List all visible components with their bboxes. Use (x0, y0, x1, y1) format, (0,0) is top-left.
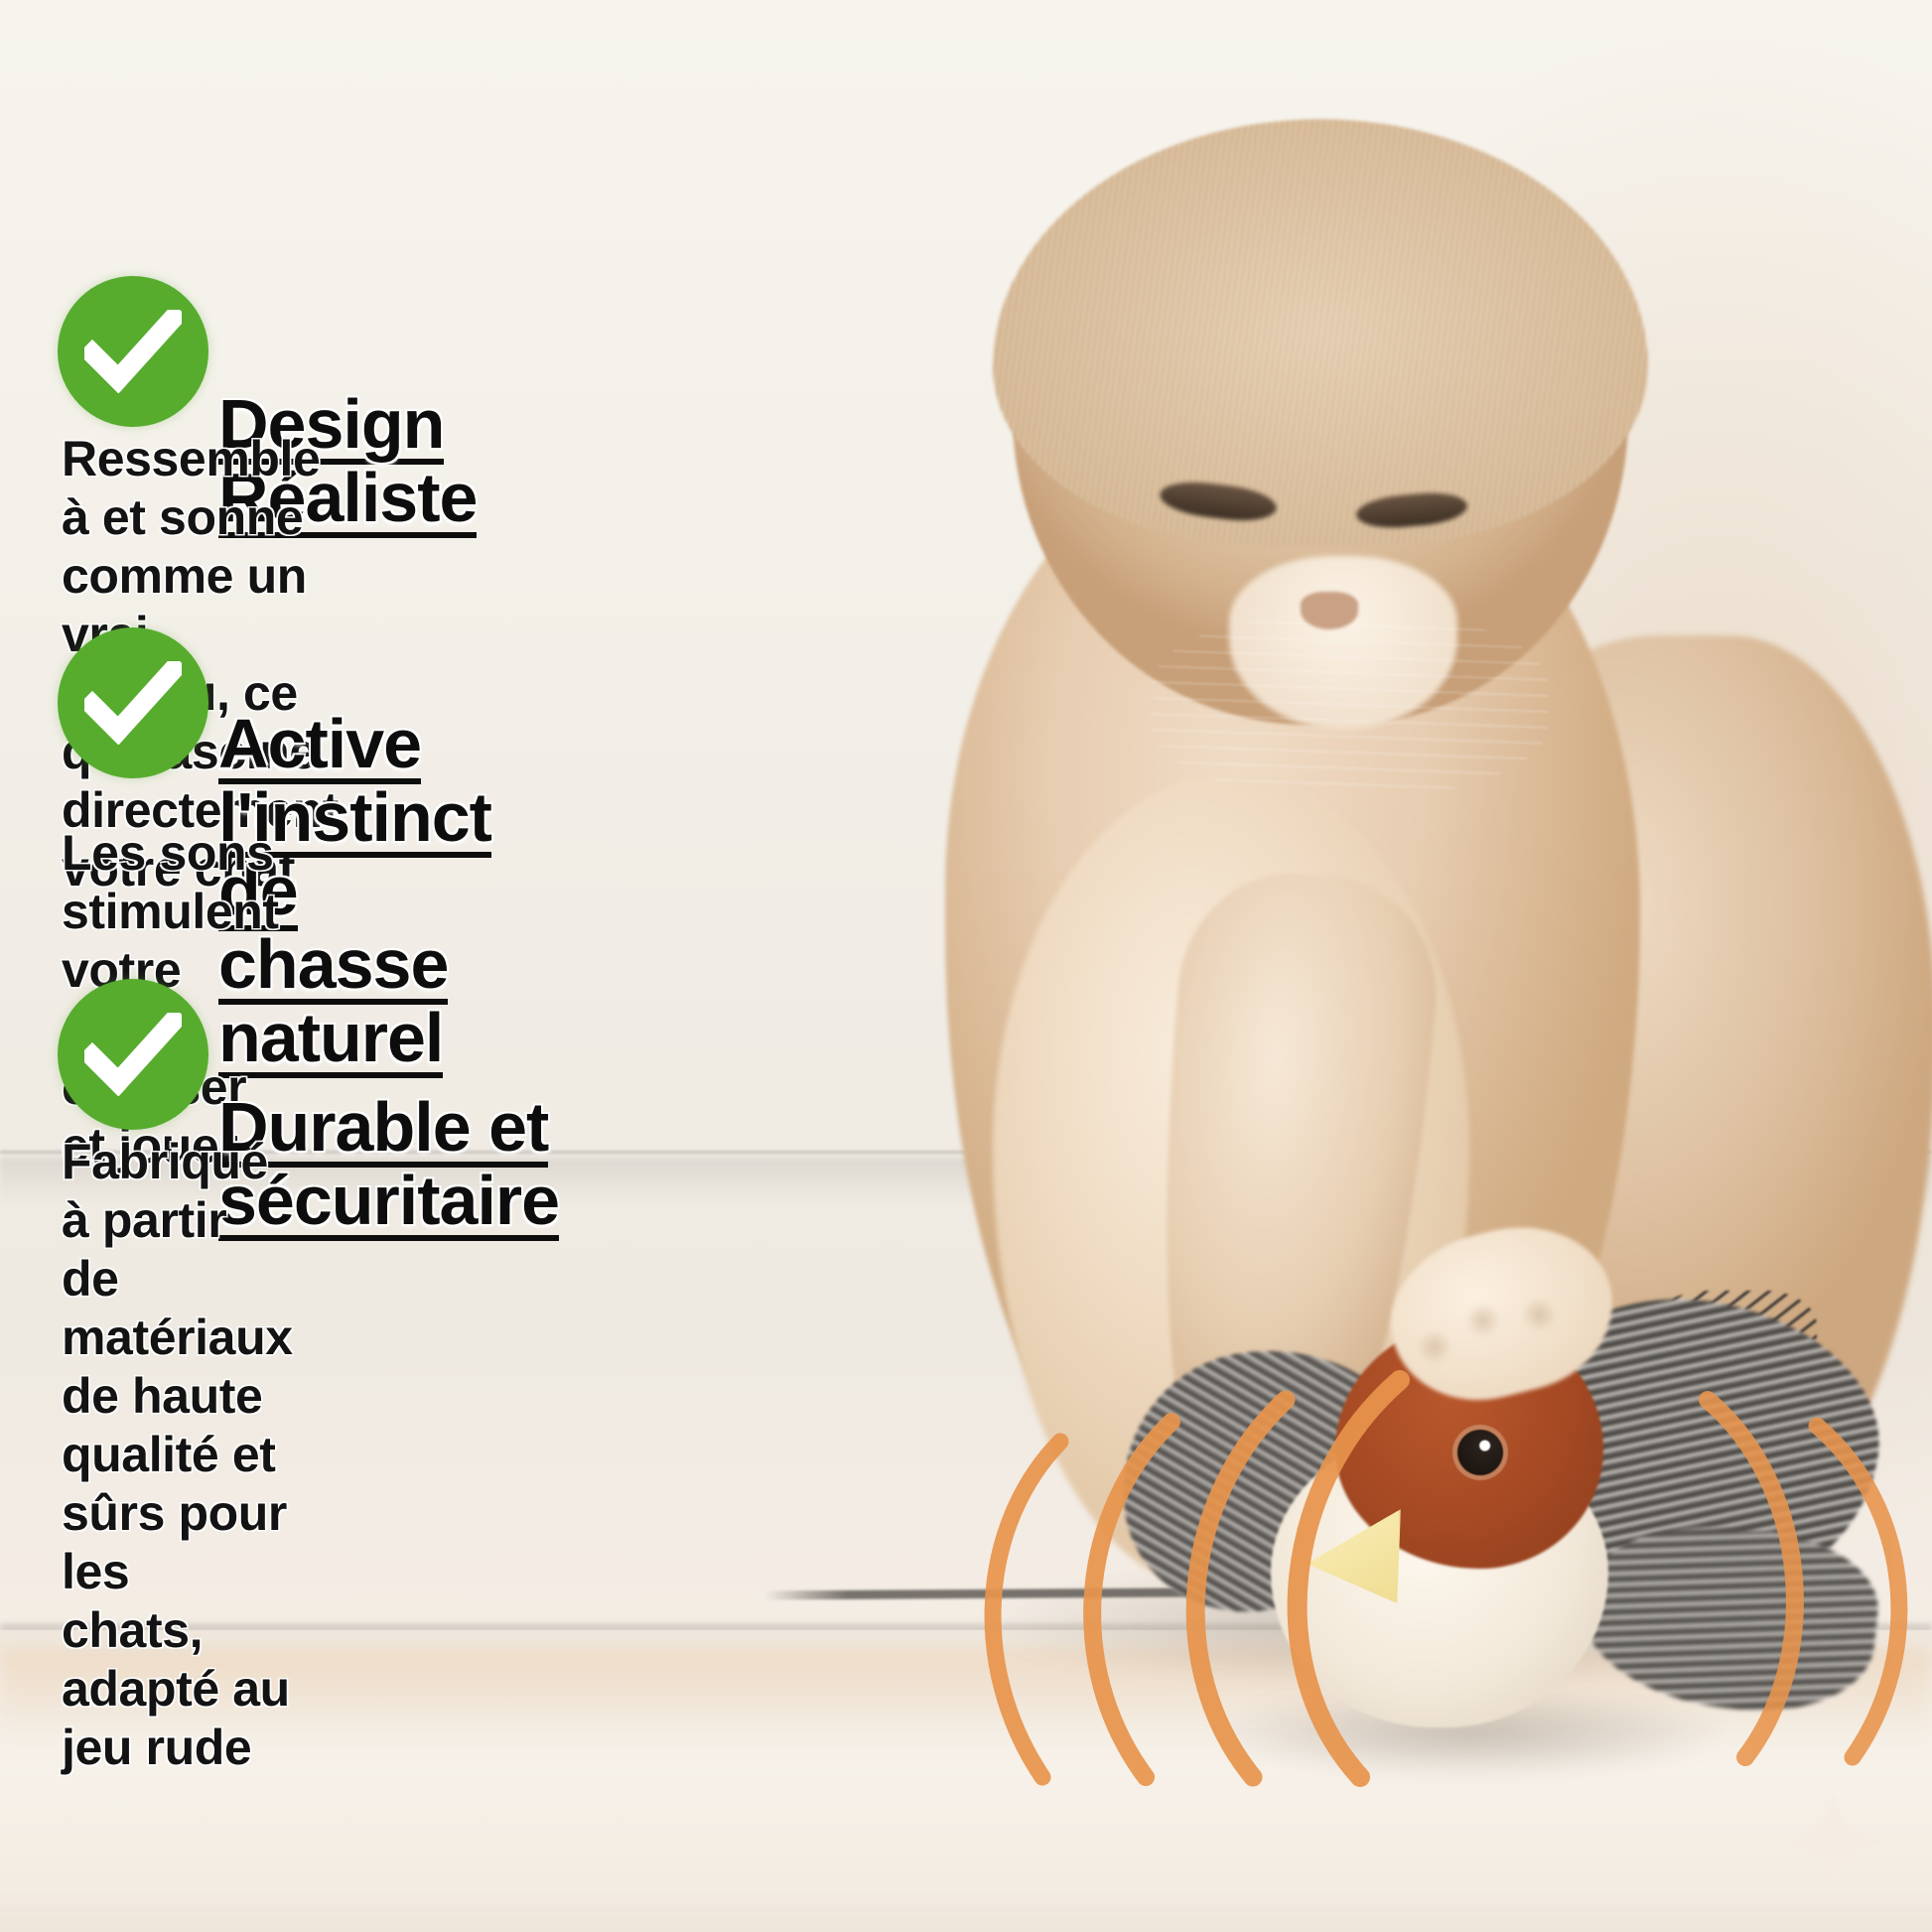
cat-nose (1301, 592, 1358, 629)
checkmark-icon (84, 661, 182, 745)
bird-eye (1457, 1430, 1503, 1475)
check-circle-icon (58, 276, 208, 427)
sound-wave-arcs-right (1668, 1390, 1932, 1767)
check-circle-icon (58, 979, 208, 1130)
check-circle-icon (58, 627, 208, 778)
cat-whiskers (1152, 616, 1549, 794)
feature-list: Design Réaliste Ressemble à et sonne com… (0, 0, 993, 1932)
feature-body: Fabriqué à partir de matériaux de haute … (62, 1133, 293, 1777)
sparkle-star-icon (1779, 1787, 1888, 1896)
checkmark-icon (84, 1013, 182, 1096)
product-feature-ad: Design Réaliste Ressemble à et sonne com… (0, 0, 1932, 1932)
checkmark-icon (84, 310, 182, 393)
sound-wave-arcs-left (933, 1370, 1430, 1787)
